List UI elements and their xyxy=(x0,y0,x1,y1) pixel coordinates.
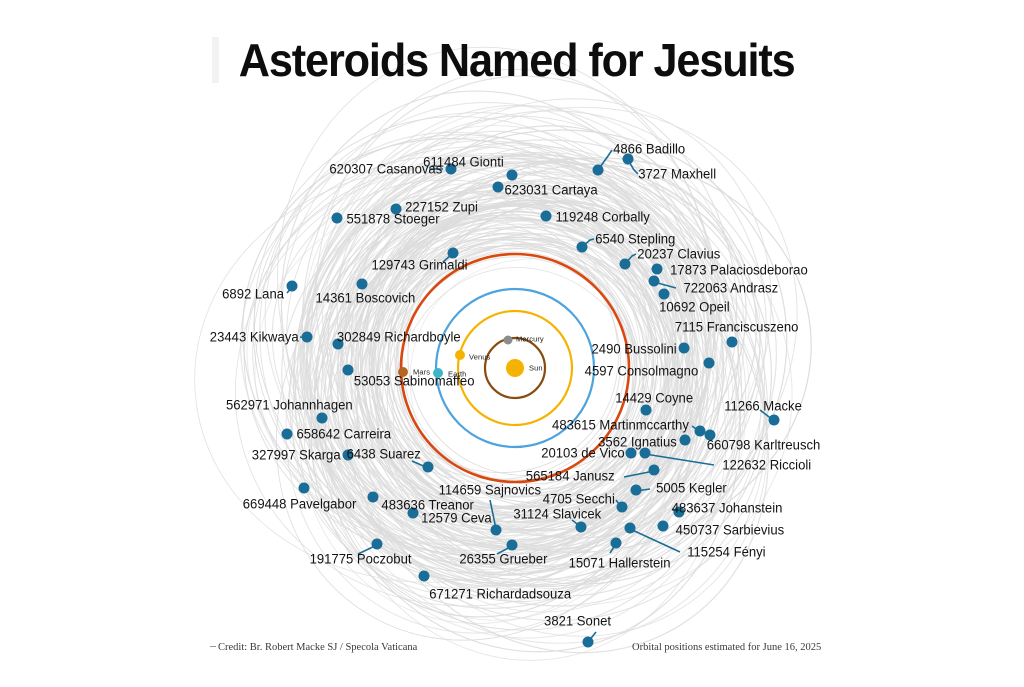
planet-label-sun: Sun xyxy=(529,364,543,373)
asteroid-label: 20237 Clavius xyxy=(637,247,720,262)
asteroid-dot[interactable] xyxy=(282,429,293,440)
asteroid-label: 3727 Maxhell xyxy=(638,167,716,182)
asteroid-label: 4705 Secchi xyxy=(543,492,615,507)
asteroid-label: 114659 Sajnovics xyxy=(439,483,541,498)
asteroid-dot[interactable] xyxy=(617,502,628,513)
asteroid-dot[interactable] xyxy=(317,413,328,424)
asteroid-label: 302849 Richardboyle xyxy=(337,330,461,345)
asteroid-label: 450737 Sarbievius xyxy=(676,523,784,538)
asteroid-dot[interactable] xyxy=(631,485,642,496)
credit-text: Credit: Br. Robert Macke SJ / Specola Va… xyxy=(218,642,417,653)
asteroid-dot[interactable] xyxy=(680,435,691,446)
asteroid-dot[interactable] xyxy=(769,415,780,426)
title-accent-bar xyxy=(212,37,219,83)
title-bar: Asteroids Named for Jesuits xyxy=(0,32,1024,88)
asteroid-label: 5005 Kegler xyxy=(656,481,727,496)
label-leader-lines xyxy=(0,0,1024,687)
asteroid-label: 483637 Johanstein xyxy=(672,501,783,516)
asteroid-label: 658642 Carreira xyxy=(296,427,391,442)
asteroid-dot[interactable] xyxy=(658,521,669,532)
asteroid-label: 623031 Cartaya xyxy=(504,183,597,198)
asteroid-dot[interactable] xyxy=(625,523,636,534)
asteroid-label: 115254 Fényi xyxy=(687,545,765,560)
asteroid-dot[interactable] xyxy=(332,213,343,224)
asteroid-dot[interactable] xyxy=(576,522,587,533)
asteroid-dot[interactable] xyxy=(593,165,604,176)
asteroid-label: 562971 Johannhagen xyxy=(226,398,353,413)
asteroid-dot[interactable] xyxy=(372,539,383,550)
asteroid-label: 6892 Lana xyxy=(222,287,284,302)
asteroid-dot[interactable] xyxy=(649,465,660,476)
asteroid-dot[interactable] xyxy=(659,289,670,300)
asteroid-label: 722063 Andrasz xyxy=(683,281,778,296)
planet-label-mars: Mars xyxy=(413,368,430,377)
asteroid-label: 4866 Badillo xyxy=(613,142,685,157)
asteroid-label: 122632 Riccioli xyxy=(722,458,811,473)
asteroid-dot[interactable] xyxy=(652,264,663,275)
asteroid-label: 660798 Karltreusch xyxy=(707,438,821,453)
asteroid-dot[interactable] xyxy=(641,405,652,416)
asteroid-label: 6540 Stepling xyxy=(595,232,675,247)
asteroid-label: 10692 Opeil xyxy=(659,300,730,315)
asteroid-dot[interactable] xyxy=(541,211,552,222)
asteroid-label: 17873 Palaciosdeborao xyxy=(670,263,808,278)
leader-line xyxy=(645,454,714,465)
asteroid-label: 129743 Grimaldi xyxy=(371,258,467,273)
asteroid-label: 12579 Ceva xyxy=(421,511,492,526)
infographic-canvas: 620307 Casanovas611484 Gionti4866 Badill… xyxy=(0,0,1024,687)
asteroid-dot[interactable] xyxy=(491,525,502,536)
asteroid-dot[interactable] xyxy=(507,170,518,181)
asteroid-dot[interactable] xyxy=(357,279,368,290)
asteroid-label: 2490 Bussolini xyxy=(592,342,677,357)
credit-dash xyxy=(210,646,216,647)
asteroid-dot[interactable] xyxy=(649,276,660,287)
asteroid-label: 611484 Gionti xyxy=(423,155,504,170)
asteroid-label: 327997 Skarga xyxy=(252,448,341,463)
epoch-note: Orbital positions estimated for June 16,… xyxy=(632,642,821,653)
asteroid-dot[interactable] xyxy=(423,462,434,473)
asteroid-dot[interactable] xyxy=(368,492,379,503)
asteroid-label: 26355 Grueber xyxy=(459,552,547,567)
asteroid-label: 551878 Stoeger xyxy=(346,212,439,227)
asteroid-dot[interactable] xyxy=(577,242,588,253)
planet-label-earth: Earth xyxy=(448,370,466,379)
page-title: Asteroids Named for Jesuits xyxy=(239,32,795,88)
asteroid-label: 565184 Janusz xyxy=(526,469,615,484)
asteroid-label: 11266 Macke xyxy=(724,399,802,414)
asteroid-dot[interactable] xyxy=(287,281,298,292)
planet-label-venus: Venus xyxy=(469,353,490,362)
leader-line xyxy=(630,529,680,552)
asteroid-label: 483615 Martinmccarthy xyxy=(552,418,689,433)
asteroid-dot[interactable] xyxy=(507,540,518,551)
asteroid-label: 4597 Consolmagno xyxy=(585,364,699,379)
asteroid-label: 119248 Corbally xyxy=(555,210,649,225)
asteroid-label: 191775 Poczobut xyxy=(310,552,412,567)
asteroid-label: 15071 Hallerstein xyxy=(569,556,671,571)
asteroid-dot[interactable] xyxy=(583,637,594,648)
asteroid-dot[interactable] xyxy=(493,182,504,193)
asteroid-dot[interactable] xyxy=(727,337,738,348)
asteroid-label: 6438 Suarez xyxy=(347,447,421,462)
planet-label-mercury: Mercury xyxy=(516,335,544,344)
asteroid-label: 23443 Kikwaya xyxy=(210,330,299,345)
asteroid-label: 20103 de Vico xyxy=(541,446,624,461)
asteroid-dot[interactable] xyxy=(704,358,715,369)
asteroid-label: 3821 Sonet xyxy=(544,614,611,629)
asteroid-label: 14429 Coyne xyxy=(615,391,693,406)
asteroid-dot[interactable] xyxy=(679,343,690,354)
asteroid-dot[interactable] xyxy=(611,538,622,549)
asteroid-dot[interactable] xyxy=(419,571,430,582)
asteroid-label: 31124 Slavicek xyxy=(513,507,601,522)
asteroid-label: 14361 Boscovich xyxy=(316,291,416,306)
asteroid-dot[interactable] xyxy=(299,483,310,494)
asteroid-dot[interactable] xyxy=(343,365,354,376)
asteroid-label: 671271 Richardadsouza xyxy=(429,587,571,602)
asteroid-dot[interactable] xyxy=(302,332,313,343)
asteroid-label: 669448 Pavelgabor xyxy=(243,497,357,512)
asteroid-label: 7115 Franciscuszeno xyxy=(675,320,799,335)
asteroid-dot[interactable] xyxy=(620,259,631,270)
